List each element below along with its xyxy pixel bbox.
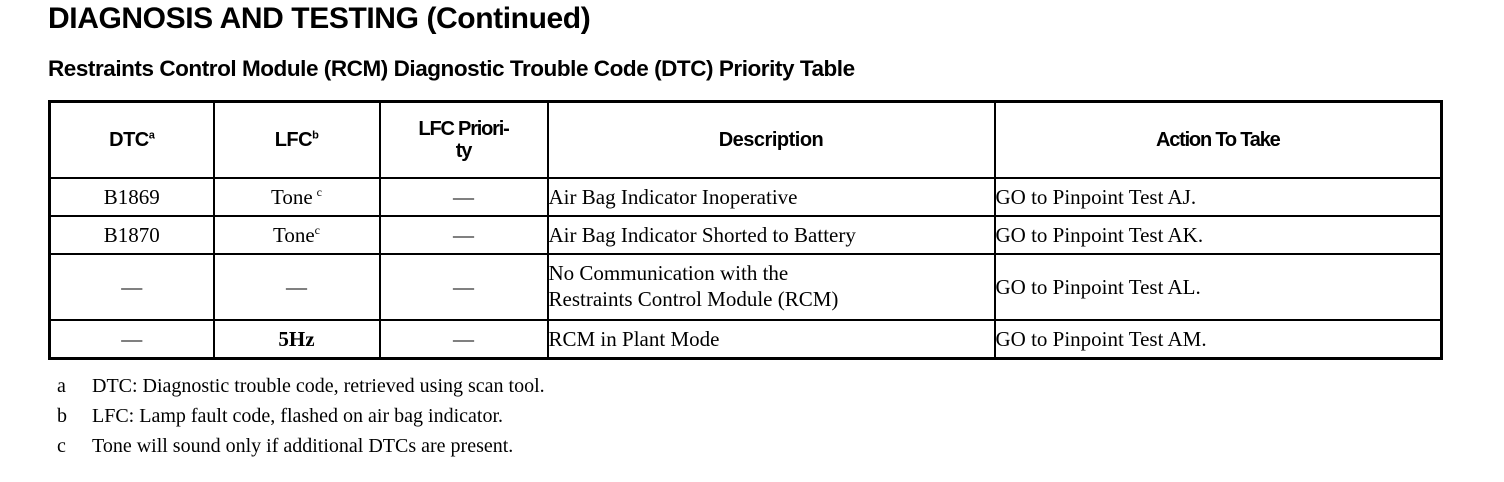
cell-lfc: 5Hz [214, 320, 380, 359]
cell-dtc: B1869 [50, 178, 214, 216]
cell-action-to-take: GO to Pinpoint Test AL. [995, 254, 1442, 320]
footnote-text: Tone will sound only if additional DTCs … [92, 435, 513, 458]
column-header-lfc-priority: LFC Priori-ty [380, 102, 548, 179]
footnotes-list: a DTC: Diagnostic trouble code, retrieve… [48, 375, 1448, 465]
cell-lfc-footnote-marker: c [317, 185, 322, 199]
cell-description-line1: RCM in Plant Mode [549, 327, 720, 351]
page-title: DIAGNOSIS AND TESTING (Continued) [48, 2, 590, 36]
cell-dtc: B1870 [50, 216, 214, 254]
cell-action-to-take: GO to Pinpoint Test AK. [995, 216, 1442, 254]
table-header-row: DTCa LFCb LFC Priori-ty Description Acti… [50, 102, 1442, 179]
column-header-lfc-label: LFC [275, 129, 312, 151]
cell-description: Air Bag Indicator Shorted to Battery [548, 216, 995, 254]
cell-lfc-priority: — [380, 254, 548, 320]
column-header-lfc-priority-line2: ty [456, 140, 471, 162]
table-row: B1870 Tonec — Air Bag Indicator Shorted … [50, 216, 1442, 254]
dtc-priority-table-wrapper: DTCa LFCb LFC Priori-ty Description Acti… [48, 100, 1440, 360]
cell-lfc-value: — [286, 275, 307, 299]
cell-description: Air Bag Indicator Inoperative [548, 178, 995, 216]
cell-description-line1: No Communication with the [549, 261, 789, 285]
footnote-item: a DTC: Diagnostic trouble code, retrieve… [48, 375, 1448, 405]
cell-lfc-value: Tone [273, 223, 315, 247]
cell-description: No Communication with theRestraints Cont… [548, 254, 995, 320]
footnote-marker: b [48, 405, 92, 428]
cell-lfc: — [214, 254, 380, 320]
cell-lfc-value: 5Hz [278, 327, 314, 351]
document-page: DIAGNOSIS AND TESTING (Continued) Restra… [0, 0, 1504, 482]
cell-lfc-footnote-marker: c [315, 223, 320, 237]
footnote-item: c Tone will sound only if additional DTC… [48, 435, 1448, 465]
cell-dtc: — [50, 320, 214, 359]
footnote-item: b LFC: Lamp fault code, flashed on air b… [48, 405, 1448, 435]
column-header-lfc: LFCb [214, 102, 380, 179]
column-header-dtc-footnote-marker: a [149, 129, 155, 141]
cell-lfc-value: Tone [271, 185, 313, 209]
footnote-text: DTC: Diagnostic trouble code, retrieved … [92, 375, 545, 398]
cell-dtc: — [50, 254, 214, 320]
cell-lfc: Tonec [214, 216, 380, 254]
footnote-text: LFC: Lamp fault code, flashed on air bag… [92, 405, 503, 428]
footnote-marker: a [48, 375, 92, 398]
cell-lfc-priority: — [380, 216, 548, 254]
cell-description-line1: Air Bag Indicator Shorted to Battery [549, 223, 856, 247]
table-body: B1869 Tonec — Air Bag Indicator Inoperat… [50, 178, 1442, 359]
cell-description-line2: Restraints Control Module (RCM) [549, 287, 839, 311]
cell-action-to-take: GO to Pinpoint Test AJ. [995, 178, 1442, 216]
cell-lfc: Tonec [214, 178, 380, 216]
cell-description-line1: Air Bag Indicator Inoperative [549, 185, 798, 209]
cell-lfc-priority: — [380, 320, 548, 359]
cell-action-to-take: GO to Pinpoint Test AM. [995, 320, 1442, 359]
column-header-dtc: DTCa [50, 102, 214, 179]
column-header-lfc-priority-line1: LFC Priori- [418, 118, 508, 140]
footnote-marker: c [48, 435, 92, 458]
cell-description: RCM in Plant Mode [548, 320, 995, 359]
dtc-priority-table: DTCa LFCb LFC Priori-ty Description Acti… [48, 100, 1443, 360]
cell-lfc-priority: — [380, 178, 548, 216]
column-header-lfc-footnote-marker: b [312, 129, 318, 141]
table-header: DTCa LFCb LFC Priori-ty Description Acti… [50, 102, 1442, 179]
column-header-dtc-label: DTC [109, 129, 149, 151]
table-row: B1869 Tonec — Air Bag Indicator Inoperat… [50, 178, 1442, 216]
column-header-action-to-take: Action To Take [995, 102, 1442, 179]
table-row: — 5Hz — RCM in Plant Mode GO to Pinpoint… [50, 320, 1442, 359]
table-caption: Restraints Control Module (RCM) Diagnost… [48, 56, 855, 82]
table-row: — — — No Communication with theRestraint… [50, 254, 1442, 320]
column-header-description: Description [548, 102, 995, 179]
